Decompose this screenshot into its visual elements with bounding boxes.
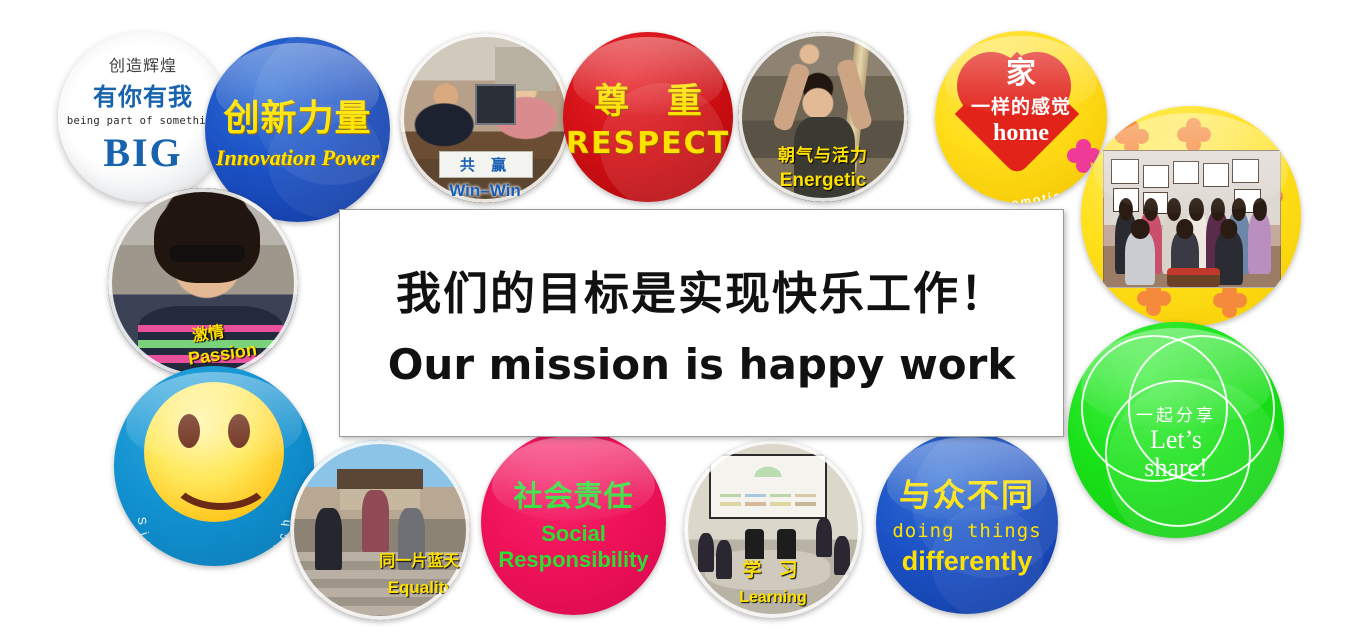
flower-icon <box>1115 120 1149 154</box>
learning-cn-label: 学 习 <box>684 555 862 582</box>
share-cn-label: 一起分享 <box>1136 401 1216 426</box>
badge-respect: 尊 重 RESPECT <box>563 32 733 202</box>
badge-passion: 激情 Passion <box>108 188 298 378</box>
innovation-cn-label: 创新力量 <box>223 89 371 141</box>
big-line1: 创造辉煌 <box>109 58 177 76</box>
badge-learning: 学 习 Learning <box>684 440 862 618</box>
badge-energetic: 朝气与活力 Energetic <box>738 32 908 202</box>
simple-rich-label: S i m p l e 简 单 · 充 实 R i c h <box>135 516 293 561</box>
badge-home-is-an-emotion: 家 一样的感觉 home is an emotion <box>935 31 1107 203</box>
learning-en-label: Learning <box>684 589 862 607</box>
differently-en-line2: differently <box>902 546 1033 577</box>
simple-rich-curved-text: S i m p l e 简 单 · 充 实 R i c h <box>114 499 314 561</box>
share-en-line2: share! <box>1136 454 1216 481</box>
badge-simple-and-rich: S i m p l e 简 单 · 充 实 R i c h <box>114 366 314 566</box>
energetic-cn-label: 朝气与活力 <box>738 141 908 166</box>
big-line3: being part of something <box>67 115 219 127</box>
big-line2: 有你有我 <box>93 77 193 112</box>
home-en-title: home <box>993 120 1049 147</box>
social-en-line2: Responsibility <box>498 547 648 573</box>
badge-lets-share: 一起分享 Let’s share! <box>1068 322 1284 538</box>
svg-text:S i m p l e 简 单 · 充 实 R i: S i m p l e 简 单 · 充 实 R i c h <box>135 516 293 561</box>
badge-doing-things-differently: 与众不同 doing things differently <box>876 432 1058 614</box>
badge-being-part-of-something-big: 创造辉煌 有你有我 being part of something BIG <box>58 32 228 202</box>
win-win-en-label: Win–Win <box>400 181 570 201</box>
big-line4: BIG <box>103 129 182 176</box>
differently-cn-label: 与众不同 <box>899 470 1035 516</box>
mission-en-text: Our mission is happy work <box>388 340 1016 389</box>
social-cn-label: 社会责任 <box>513 473 633 515</box>
home-en-subtitle: is an emotion <box>969 187 1073 203</box>
handshake-photo <box>400 33 570 203</box>
differently-en-line1: doing things <box>892 520 1041 542</box>
badge-social-responsibility: 社会责任 Social Responsibility <box>481 430 666 615</box>
flower-icon <box>1177 118 1211 152</box>
badge-win-win: 共 赢 Win–Win <box>400 33 570 203</box>
win-win-cn-label: 共 赢 <box>440 154 532 175</box>
home-cn-title: 家 <box>1006 59 1036 89</box>
flower-icon <box>1213 284 1247 318</box>
mission-banner: 我们的目标是实现快乐工作！ Our mission is happy work <box>339 209 1064 437</box>
team-group-photo <box>1103 150 1281 288</box>
home-cn-subtitle: 一样的感觉 <box>971 92 1071 119</box>
respect-en-label: RESPECT <box>566 126 730 161</box>
social-en-line1: Social <box>541 521 606 547</box>
culture-values-poster: 创造辉煌 有你有我 being part of something BIG 创新… <box>0 0 1366 635</box>
equality-en-label: Equality <box>388 578 454 598</box>
innovation-en-label: Innovation Power <box>216 145 379 171</box>
win-win-plate: 共 赢 <box>439 151 533 178</box>
energetic-en-label: Energetic <box>738 170 908 192</box>
badge-team-photo <box>1081 106 1301 326</box>
passion-cn-label: 激情 <box>190 318 225 346</box>
share-en-line1: Let’s <box>1136 426 1216 453</box>
respect-cn-label: 尊 重 <box>580 73 716 124</box>
badge-equality: 同一片蓝天 Equality <box>290 440 470 620</box>
equality-cn-label: 同一片蓝天 <box>379 547 459 571</box>
mission-cn-text: 我们的目标是实现快乐工作！ <box>396 257 1007 322</box>
